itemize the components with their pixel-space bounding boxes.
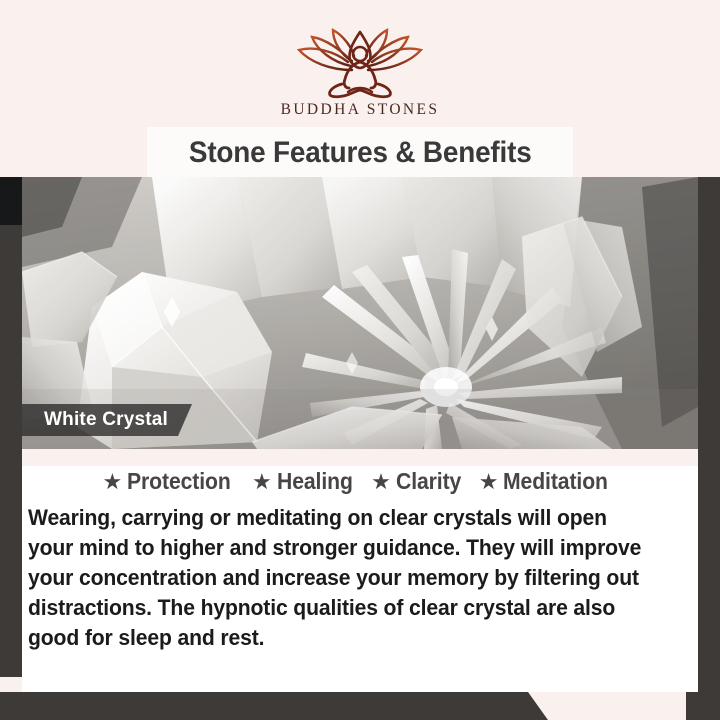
left-accent-border	[0, 177, 22, 677]
lotus-meditation-icon	[290, 26, 430, 100]
stone-name-badge: White Crystal	[22, 404, 192, 436]
description-text: Wearing, carrying or meditating on clear…	[28, 503, 647, 653]
product-feature-card: BUDDHA STONES Stone Features & Benefits	[0, 0, 720, 720]
cream-divider-strip	[22, 449, 698, 466]
benefit-item-clarity: ★ Clarity	[371, 468, 467, 495]
benefits-list: ★ Protection ★ Healing ★ Clarity ★ Medit…	[22, 468, 698, 495]
benefit-item-healing: ★ Healing	[252, 468, 359, 495]
star-icon: ★	[479, 471, 499, 493]
brand-name: BUDDHA STONES	[281, 101, 440, 119]
benefit-label: Healing	[277, 468, 353, 495]
page-title: Stone Features & Benefits	[189, 136, 532, 170]
star-icon: ★	[371, 471, 391, 493]
benefit-item-protection: ★ Protection	[103, 468, 240, 495]
brand-logo: BUDDHA STONES	[0, 26, 720, 119]
benefit-label: Clarity	[396, 468, 461, 495]
left-accent-cap	[0, 177, 22, 225]
title-banner: Stone Features & Benefits	[147, 127, 573, 178]
bottom-accent-band	[0, 692, 720, 720]
star-icon: ★	[252, 471, 272, 493]
stone-name: White Crystal	[44, 409, 168, 431]
card-header: BUDDHA STONES Stone Features & Benefits	[0, 0, 720, 177]
benefit-label: Protection	[127, 468, 231, 495]
benefit-item-meditation: ★ Meditation	[479, 468, 618, 495]
star-icon: ★	[103, 471, 123, 493]
benefit-label: Meditation	[503, 468, 608, 495]
